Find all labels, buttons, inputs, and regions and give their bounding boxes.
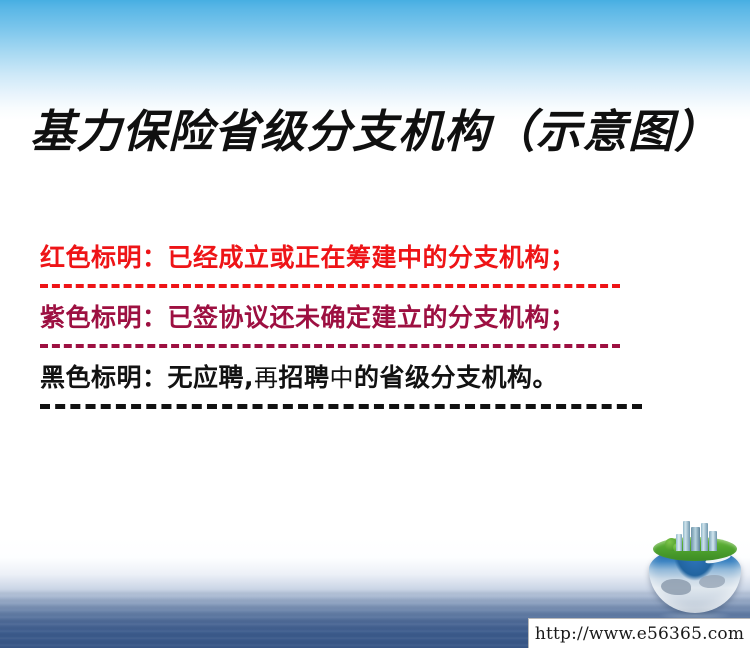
legend-black-part-a: 无应聘, [168, 363, 255, 392]
legend-divider-red [40, 284, 620, 288]
watermark-url-box: http://www.e56365.com [528, 618, 750, 648]
legend-row-plum: 紫色标明：已签协议还未确定建立的分支机构； [40, 298, 712, 348]
globe-city-logo-icon [645, 521, 745, 621]
legend-black-part-b: 招聘 [279, 363, 330, 392]
legend-black-thin-zai: 再 [254, 364, 279, 392]
legend-row-red: 红色标明：已经成立或正在筹建中的分支机构； [40, 238, 712, 288]
building-icon-5 [676, 534, 682, 551]
legend-black-prefix: 黑色标明： [40, 363, 168, 392]
sky-gradient-background [0, 0, 750, 120]
legend-divider-plum [40, 344, 620, 348]
presentation-slide: 基力保险省级分支机构（示意图） 红色标明：已经成立或正在筹建中的分支机构； 紫色… [0, 0, 750, 648]
building-icon-4 [709, 531, 717, 551]
building-icon-2 [691, 527, 700, 551]
legend-row-black: 黑色标明：无应聘,再招聘中的省级分支机构。 [40, 358, 712, 409]
legend-block: 红色标明：已经成立或正在筹建中的分支机构； 紫色标明：已签协议还未确定建立的分支… [40, 238, 712, 419]
page-title: 基力保险省级分支机构（示意图） [0, 104, 750, 160]
legend-label-red: 红色标明：已经成立或正在筹建中的分支机构； [40, 238, 712, 278]
building-icon-3 [701, 523, 708, 551]
building-icon-1 [683, 521, 690, 551]
legend-label-plum: 紫色标明：已签协议还未确定建立的分支机构； [40, 298, 712, 338]
watermark-url-text: http://www.e56365.com [535, 624, 744, 644]
legend-black-part-c: 的省级分支机构。 [354, 363, 558, 392]
legend-label-black: 黑色标明：无应聘,再招聘中的省级分支机构。 [40, 358, 712, 398]
legend-divider-black [40, 404, 642, 409]
legend-black-thin-zhong: 中 [330, 364, 355, 392]
